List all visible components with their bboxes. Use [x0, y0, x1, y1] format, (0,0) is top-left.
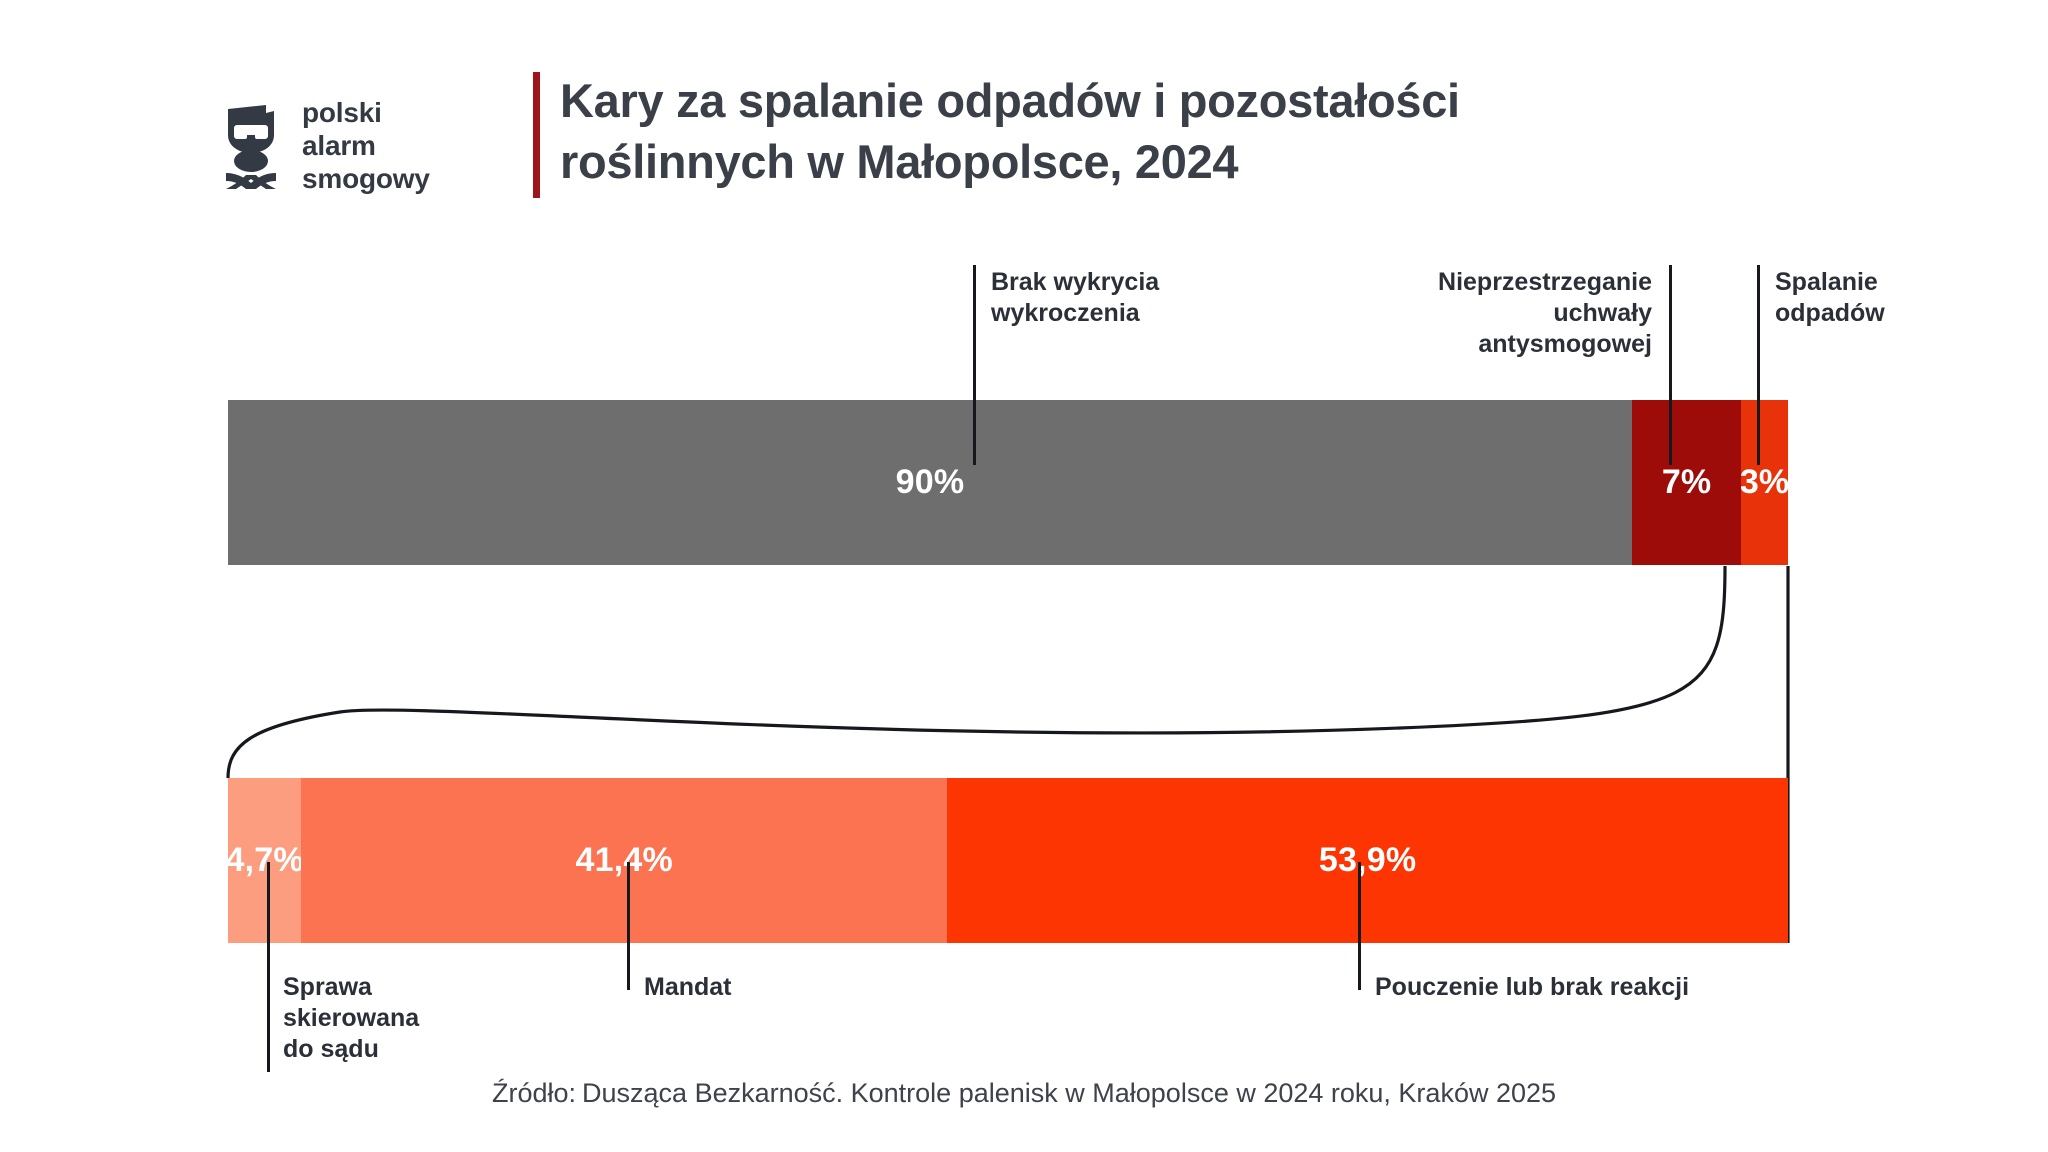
- segment-value-90: 90%: [896, 463, 965, 502]
- leader-line-pouczenie: [1358, 862, 1361, 990]
- segment-pouczenie-lub-brak-reakcji[interactable]: 53,9%: [947, 778, 1788, 943]
- segment-value-53-9: 53,9%: [1319, 841, 1416, 880]
- leader-line-mandat: [627, 862, 630, 990]
- bar-top-row: 90% 7% 3%: [228, 400, 1788, 565]
- callout-nieprzestrzeganie-uchwaly: Nieprzestrzeganie uchwały antysmogowej: [1080, 267, 1652, 360]
- callout-line: Pouczenie lub brak reakcji: [1375, 972, 1689, 1003]
- segment-brak-wykrycia-wykroczenia[interactable]: 90%: [228, 400, 1632, 565]
- leader-line-spalanie-odpadow: [1757, 265, 1760, 465]
- callout-spalanie-odpadow: Spalanie odpadów: [1775, 267, 1885, 329]
- segment-nieprzestrzeganie-uchwaly[interactable]: 7%: [1632, 400, 1741, 565]
- segment-mandat[interactable]: 41,4%: [301, 778, 947, 943]
- segment-spalanie-odpadow[interactable]: 3%: [1741, 400, 1788, 565]
- callout-line: skierowana: [283, 1003, 419, 1034]
- segment-value-7: 7%: [1662, 463, 1712, 502]
- stacked-bar-chart: 90% 7% 3% Brak wykrycia wykroczenia Niep…: [0, 0, 2048, 1152]
- callout-line: do sądu: [283, 1034, 419, 1065]
- callout-pouczenie-lub-brak-reakcji: Pouczenie lub brak reakcji: [1375, 972, 1689, 1003]
- source-note: Źródło:Duszącа Bezkarność. Kontrole pale…: [0, 1078, 2048, 1109]
- source-label: Źródło:: [492, 1078, 576, 1108]
- callout-line: Sprawa: [283, 972, 419, 1003]
- source-text: Duszącа Bezkarność. Kontrole palenisk w …: [582, 1078, 1556, 1108]
- leader-line-brak-wykrycia: [973, 265, 976, 465]
- segment-value-4-7: 4,7%: [226, 841, 304, 880]
- callout-line: Nieprzestrzeganie: [1080, 267, 1652, 298]
- callout-line: Spalanie: [1775, 267, 1885, 298]
- segment-value-3: 3%: [1741, 463, 1788, 502]
- bar-bottom-row: 4,7% 41,4% 53,9%: [228, 778, 1788, 943]
- callout-line: Mandat: [644, 972, 732, 1003]
- callout-mandat: Mandat: [644, 972, 732, 1003]
- callout-sprawa-skierowana-do-sadu: Sprawa skierowana do sądu: [283, 972, 419, 1065]
- segment-sprawa-skierowana-do-sadu[interactable]: 4,7%: [228, 778, 301, 943]
- callout-line: odpadów: [1775, 298, 1885, 329]
- segment-value-41-4: 41,4%: [576, 841, 673, 880]
- leader-line-nieprzestrzeganie: [1669, 265, 1672, 465]
- callout-line: uchwały: [1080, 298, 1652, 329]
- leader-line-sprawa-do-sadu: [267, 862, 270, 1072]
- callout-line: antysmogowej: [1080, 329, 1652, 360]
